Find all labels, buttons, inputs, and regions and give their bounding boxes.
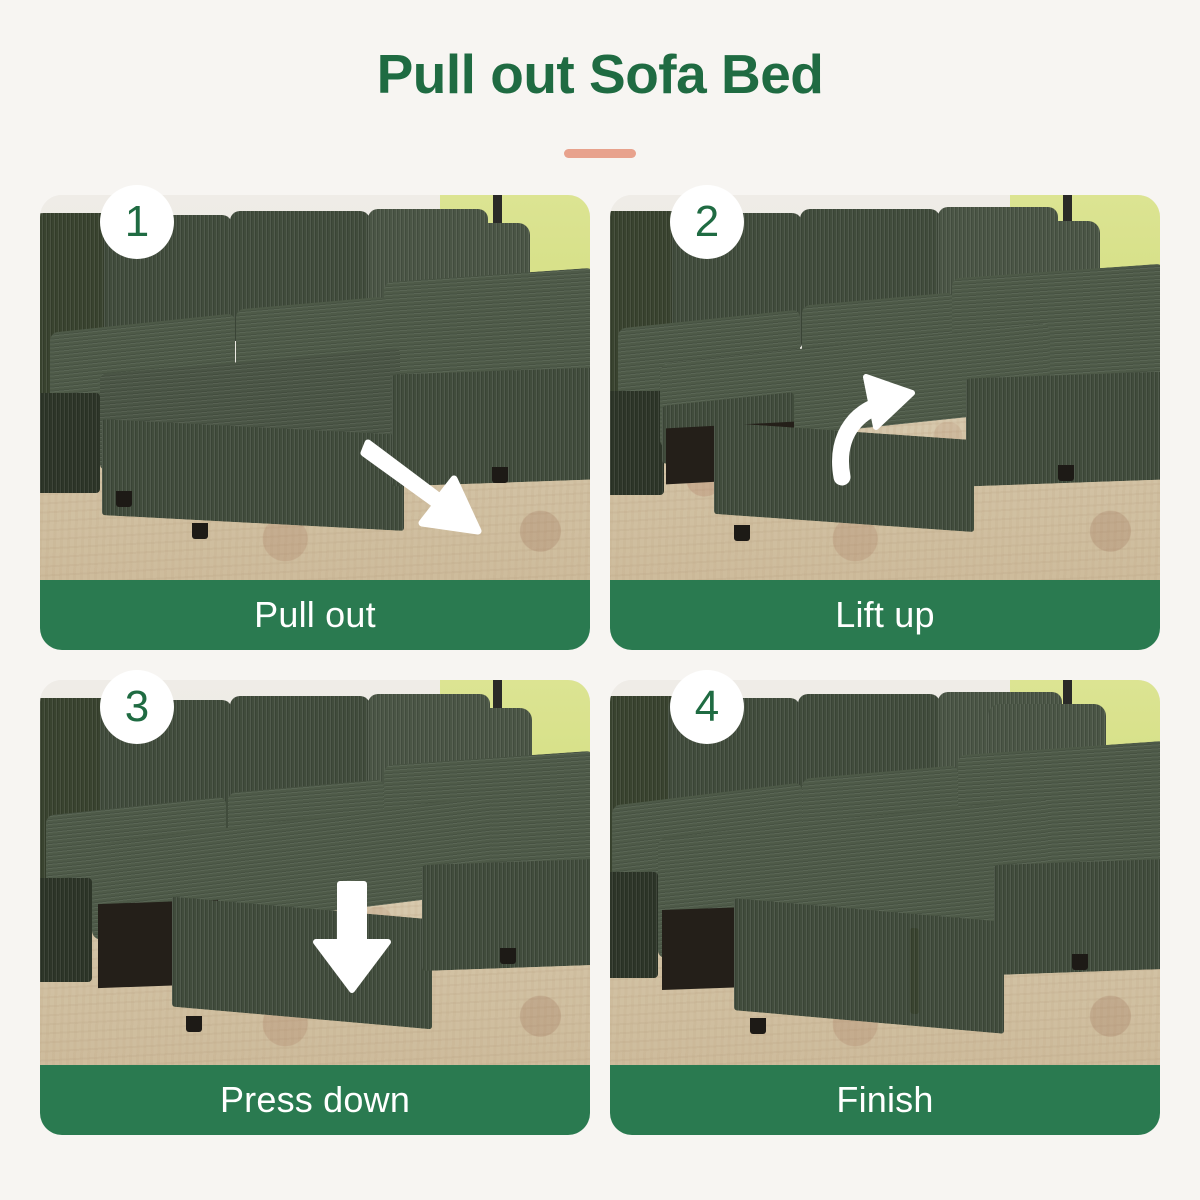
sofa-leg <box>192 523 208 539</box>
sofa-leg <box>734 525 750 541</box>
step-number-badge: 3 <box>100 670 174 744</box>
step-caption: Press down <box>40 1065 590 1135</box>
step-card-3: 3 Press down <box>40 680 590 1135</box>
step-caption: Pull out <box>40 580 590 650</box>
sofa-leg <box>1058 465 1074 481</box>
sofa-leg <box>750 1018 766 1034</box>
sofa-leg <box>116 491 132 507</box>
bed-front-panel <box>734 898 1004 1034</box>
step-card-4: 4 Finish <box>610 680 1160 1135</box>
step-number-badge: 2 <box>670 185 744 259</box>
step-number-badge: 4 <box>670 670 744 744</box>
step-card-2: 2 Lift up <box>610 195 1160 650</box>
diagonal-down-right-arrow <box>362 435 502 545</box>
sofa-base-left <box>40 878 92 982</box>
header: Pull out Sofa Bed <box>0 44 1200 158</box>
sofa-base-left <box>40 393 100 493</box>
sofa-base-left <box>610 872 658 978</box>
step-number-badge: 1 <box>100 185 174 259</box>
bed-panel-seam <box>910 928 919 1015</box>
step-caption: Finish <box>610 1065 1160 1135</box>
sofa-leg <box>1072 954 1088 970</box>
title-divider <box>564 149 636 158</box>
sofa-leg <box>186 1016 202 1032</box>
step-caption: Lift up <box>610 580 1160 650</box>
page-title: Pull out Sofa Bed <box>0 44 1200 105</box>
steps-grid: 1 Pull out <box>40 195 1160 1135</box>
sofa-leg <box>500 948 516 964</box>
step-card-1: 1 Pull out <box>40 195 590 650</box>
curved-up-arrow <box>826 373 956 493</box>
pullout-front-panel <box>102 419 404 531</box>
sofa-base-left <box>610 391 664 495</box>
sofa-bed-instruction-infographic: Pull out Sofa Bed <box>0 0 1200 1200</box>
straight-down-arrow <box>302 878 402 998</box>
